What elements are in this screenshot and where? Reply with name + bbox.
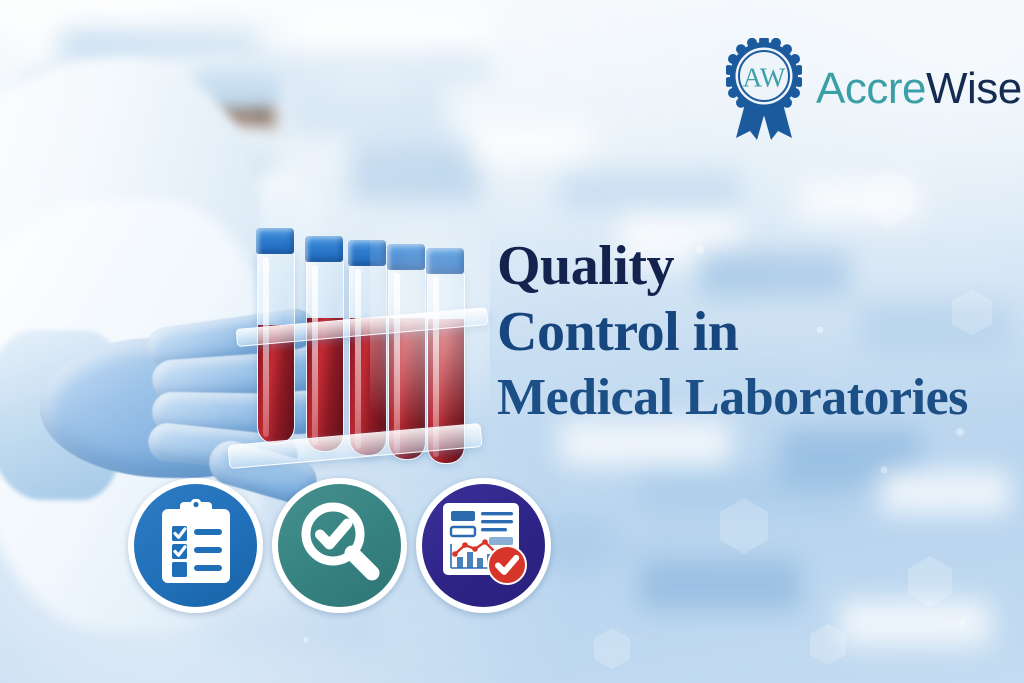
tube-highlight [263,257,269,437]
headline-line-3: Medical Laboratories [497,369,967,426]
tube-highlight [355,269,361,449]
badge-monogram: AW [743,63,786,93]
brand-name-accent: Accre [816,64,926,113]
headline-block: Quality Control in Medical Laboratories [497,236,967,426]
tube-glass [306,260,344,452]
tube-cap [348,240,386,266]
banner-canvas: AW AccreWise Quality Control in Medical … [0,0,1024,683]
brand-logo[interactable]: AW AccreWise [726,38,1022,140]
brand-name-dark: Wise [926,64,1022,113]
clipboard-checklist-icon [154,499,238,592]
award-ribbon-badge-icon: AW [726,38,802,140]
badge-report[interactable] [416,478,551,613]
tube-cap [426,248,464,274]
badge-inspection[interactable] [272,478,407,613]
tube-highlight [312,265,318,445]
tube-glass [349,264,387,456]
headline-line-1: Quality [497,236,967,298]
headline-line-2: Control in [497,302,967,364]
magnifier-check-icon [296,499,384,592]
brand-name: AccreWise [816,67,1022,111]
tube-cap [387,244,425,270]
test-tube-rack [250,222,470,467]
tube-cap [305,236,343,262]
verified-report-chart-icon [439,500,529,591]
feature-badge-row [128,478,551,613]
tube-highlight [394,273,400,453]
tube-glass [257,252,295,444]
tube-cap [256,228,294,254]
badge-checklist[interactable] [128,478,263,613]
